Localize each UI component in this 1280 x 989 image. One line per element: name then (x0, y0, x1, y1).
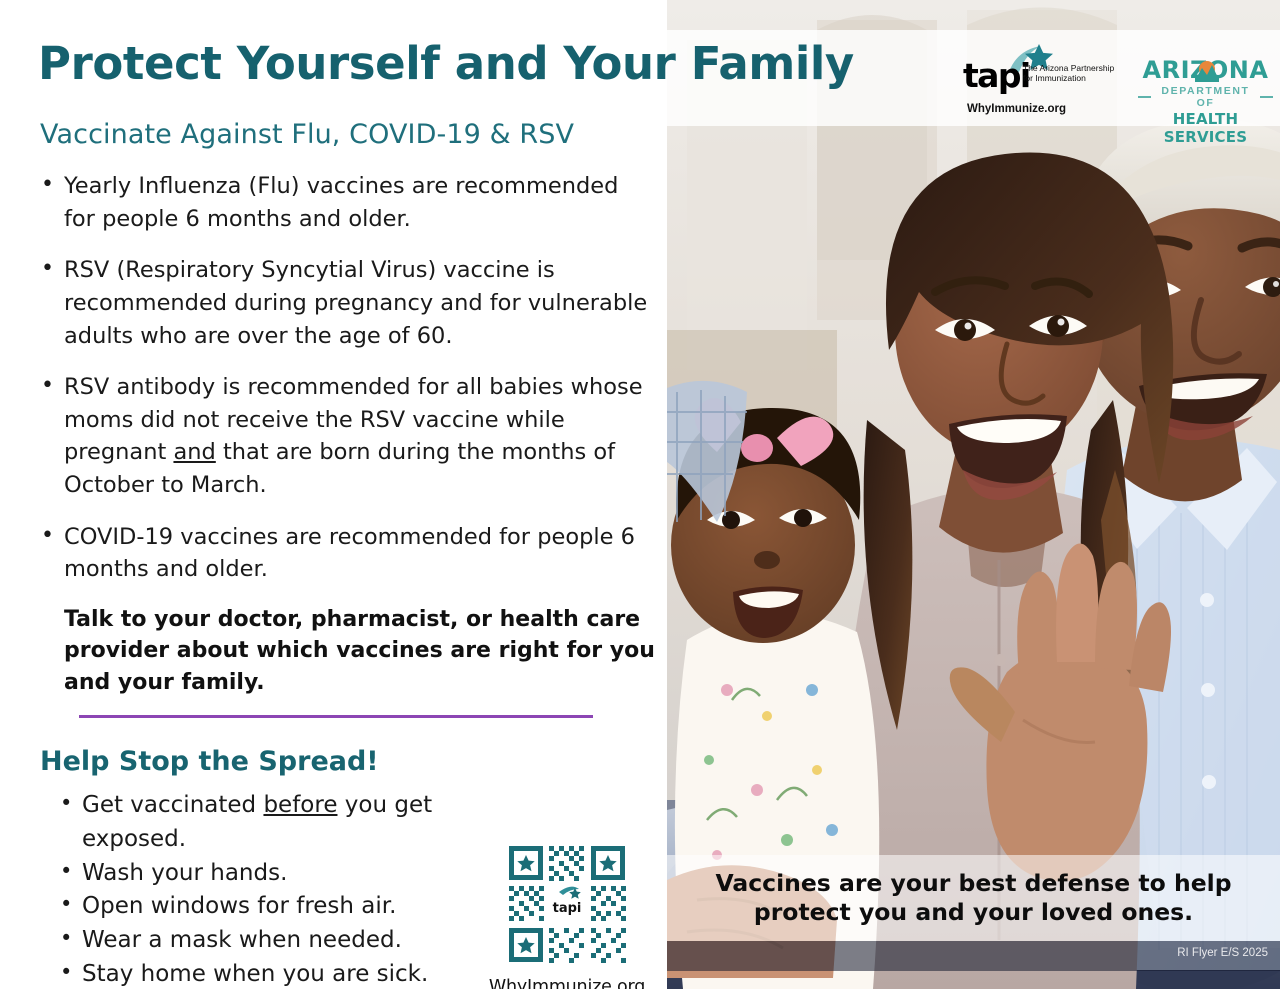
list-item: RSV antibody is recommended for all babi… (34, 371, 654, 502)
qr-caption: WhyImmunize.org (487, 977, 647, 989)
bullet-text-underline: and (173, 439, 215, 465)
page-subtitle: Vaccinate Against Flu, COVID-19 & RSV (40, 119, 574, 150)
bullet-text-pre: Yearly Influenza (Flu) vaccines are reco… (64, 173, 618, 232)
footer-doc-code: RI Flyer E/S 2025 (1177, 947, 1268, 959)
list-item: COVID-19 vaccines are recommended for pe… (34, 521, 654, 586)
list-item: Wear a mask when needed. (52, 924, 522, 958)
tapi-wordmark: tapi (963, 56, 1030, 95)
sunset-mountain-icon (1195, 59, 1219, 82)
tapi-tagline-line1: The Arizona Partnership (1023, 63, 1115, 73)
tip-text-pre: Stay home when you are sick. (82, 961, 428, 987)
flyer-page: Protect Yourself and Your Family Vaccina… (0, 0, 1280, 989)
spread-section-title: Help Stop the Spread! (40, 746, 379, 777)
section-divider (79, 715, 593, 718)
list-item: Stay home when you are sick. (52, 958, 522, 989)
list-item: Get vaccinated before you get exposed. (52, 789, 522, 857)
azdhs-health-services-label: HEALTH SERVICES (1138, 110, 1273, 146)
tapi-tagline-line2: for Immunization (1023, 73, 1115, 83)
tip-text-pre: Wear a mask when needed. (82, 927, 402, 953)
tapi-tagline: The Arizona Partnership for Immunization (1023, 63, 1115, 84)
qr-block[interactable]: tapi WhyImmunize.org (487, 840, 647, 989)
callout-text: Talk to your doctor, pharmacist, or heal… (64, 604, 656, 698)
tip-text-underline: before (263, 792, 337, 818)
list-item: Yearly Influenza (Flu) vaccines are reco… (34, 170, 654, 235)
photo-caption-band: Vaccines are your best defense to help p… (667, 855, 1280, 941)
tapi-logo[interactable]: tapi The Arizona Partnership for Immuniz… (963, 52, 1113, 122)
azdhs-department-label: DEPARTMENT OF (1156, 85, 1255, 109)
bullet-text-pre: RSV (Respiratory Syncytial Virus) vaccin… (64, 257, 647, 348)
tip-text-pre: Get vaccinated (82, 792, 263, 818)
spread-tips-list: Get vaccinated before you get exposed. W… (52, 789, 522, 989)
page-title: Protect Yourself and Your Family (38, 40, 968, 87)
tip-text-pre: Wash your hands. (82, 860, 287, 886)
recommendations-list: Yearly Influenza (Flu) vaccines are reco… (34, 170, 654, 605)
tip-text-pre: Open windows for fresh air. (82, 893, 396, 919)
list-item: Wash your hands. (52, 857, 522, 891)
bullet-text-pre: COVID-19 vaccines are recommended for pe… (64, 524, 635, 583)
photo-caption-text: Vaccines are your best defense to help p… (667, 869, 1280, 928)
rule-left (1138, 96, 1151, 98)
list-item: RSV (Respiratory Syncytial Virus) vaccin… (34, 254, 654, 352)
qr-center-label: tapi (553, 901, 582, 916)
azdhs-logo[interactable]: ARIZONA DEPARTMENT OF HEALTH SERVICES (1138, 58, 1273, 116)
qr-code-icon[interactable]: tapi (503, 840, 631, 968)
rule-right (1260, 96, 1273, 98)
family-photo (667, 0, 1280, 989)
list-item: Open windows for fresh air. (52, 890, 522, 924)
tapi-url[interactable]: WhyImmunize.org (967, 103, 1066, 115)
